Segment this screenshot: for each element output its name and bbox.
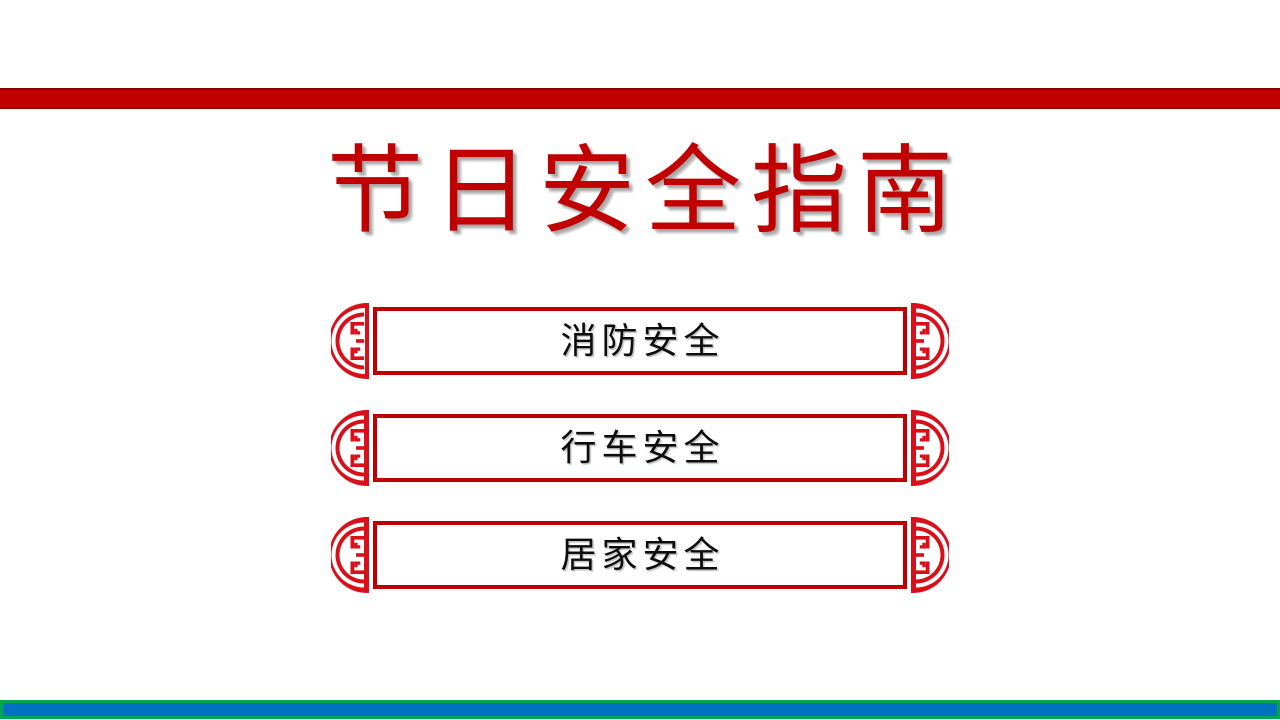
agenda-item-box[interactable]: 居家安全 [373,521,907,589]
agenda-item-label: 消防安全 [555,323,724,359]
presentation-slide: 节日安全指南 [0,0,1280,720]
chinese-hui-pattern-icon [909,410,949,486]
page-title: 节日安全指南 [317,140,963,244]
chinese-hui-pattern-icon [331,410,371,486]
agenda-item-fire-safety[interactable]: 消防安全 [325,303,955,379]
page-title-container: 节日安全指南 [0,140,1280,244]
agenda-item-home-safety[interactable]: 居家安全 [325,517,955,593]
agenda-item-driving-safety[interactable]: 行车安全 [325,410,955,486]
chinese-hui-pattern-icon [331,303,371,379]
agenda-list: 消防安全 [0,303,1280,593]
agenda-item-label: 行车安全 [555,430,724,466]
agenda-item-label: 居家安全 [555,537,724,573]
chinese-hui-pattern-icon [909,517,949,593]
agenda-item-box[interactable]: 消防安全 [373,307,907,375]
bottom-decorative-bar [0,700,1280,719]
chinese-hui-pattern-icon [331,517,371,593]
agenda-item-box[interactable]: 行车安全 [373,414,907,482]
top-decorative-bar [0,88,1280,109]
chinese-hui-pattern-icon [909,303,949,379]
